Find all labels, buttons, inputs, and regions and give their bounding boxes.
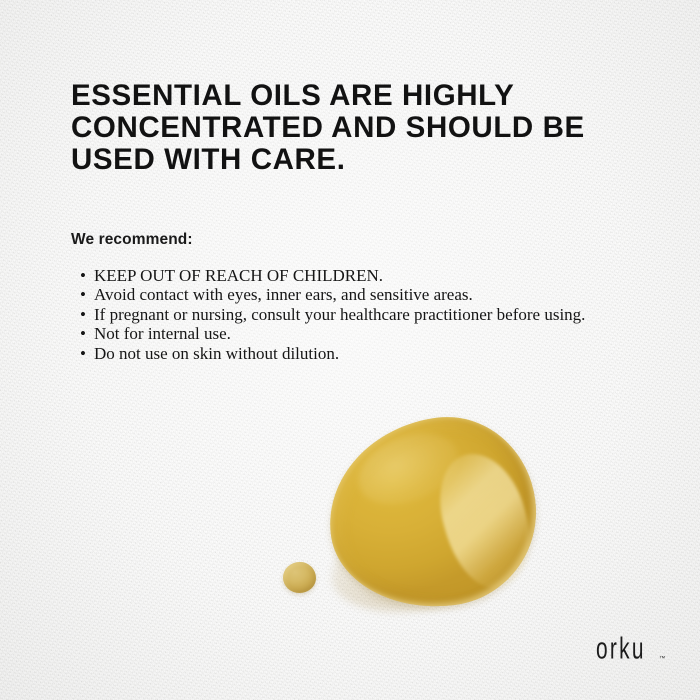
list-item-label: Do not use on skin without dilution. [94,344,339,363]
oil-drop-shadow [327,512,496,620]
oil-drop-small-icon [283,562,316,593]
bullet-icon: • [80,344,86,363]
recommendations-label: We recommend: [71,231,193,249]
list-item: • Avoid contact with eyes, inner ears, a… [78,285,678,304]
safety-info-card: Essential oils are highly concentrated a… [0,0,700,700]
oil-drop-gloss-highlight [348,420,468,518]
list-item: • KEEP OUT OF REACH OF CHILDREN. [78,266,678,285]
list-item: • If pregnant or nursing, consult your h… [78,305,678,324]
brand-logo: orku ™ [596,636,665,665]
trademark-symbol: ™ [659,656,665,662]
oil-drop-specular-highlight [427,443,543,596]
bullet-icon: • [80,266,86,285]
list-item: • Do not use on skin without dilution. [78,344,678,363]
list-item-label: If pregnant or nursing, consult your hea… [94,305,585,324]
list-item: • Not for internal use. [78,324,678,343]
bullet-icon: • [80,324,86,343]
brand-wordmark: orku [596,634,646,665]
list-item-label: KEEP OUT OF REACH OF CHILDREN. [94,266,383,285]
list-item-label: Avoid contact with eyes, inner ears, and… [94,285,473,304]
bullet-icon: • [80,305,86,324]
page-title: Essential oils are highly concentrated a… [71,80,651,176]
oil-drop-large-icon [318,407,546,619]
bullet-icon: • [80,285,86,304]
list-item-label: Not for internal use. [94,324,231,343]
recommendations-list: • KEEP OUT OF REACH OF CHILDREN. • Avoid… [78,266,678,363]
